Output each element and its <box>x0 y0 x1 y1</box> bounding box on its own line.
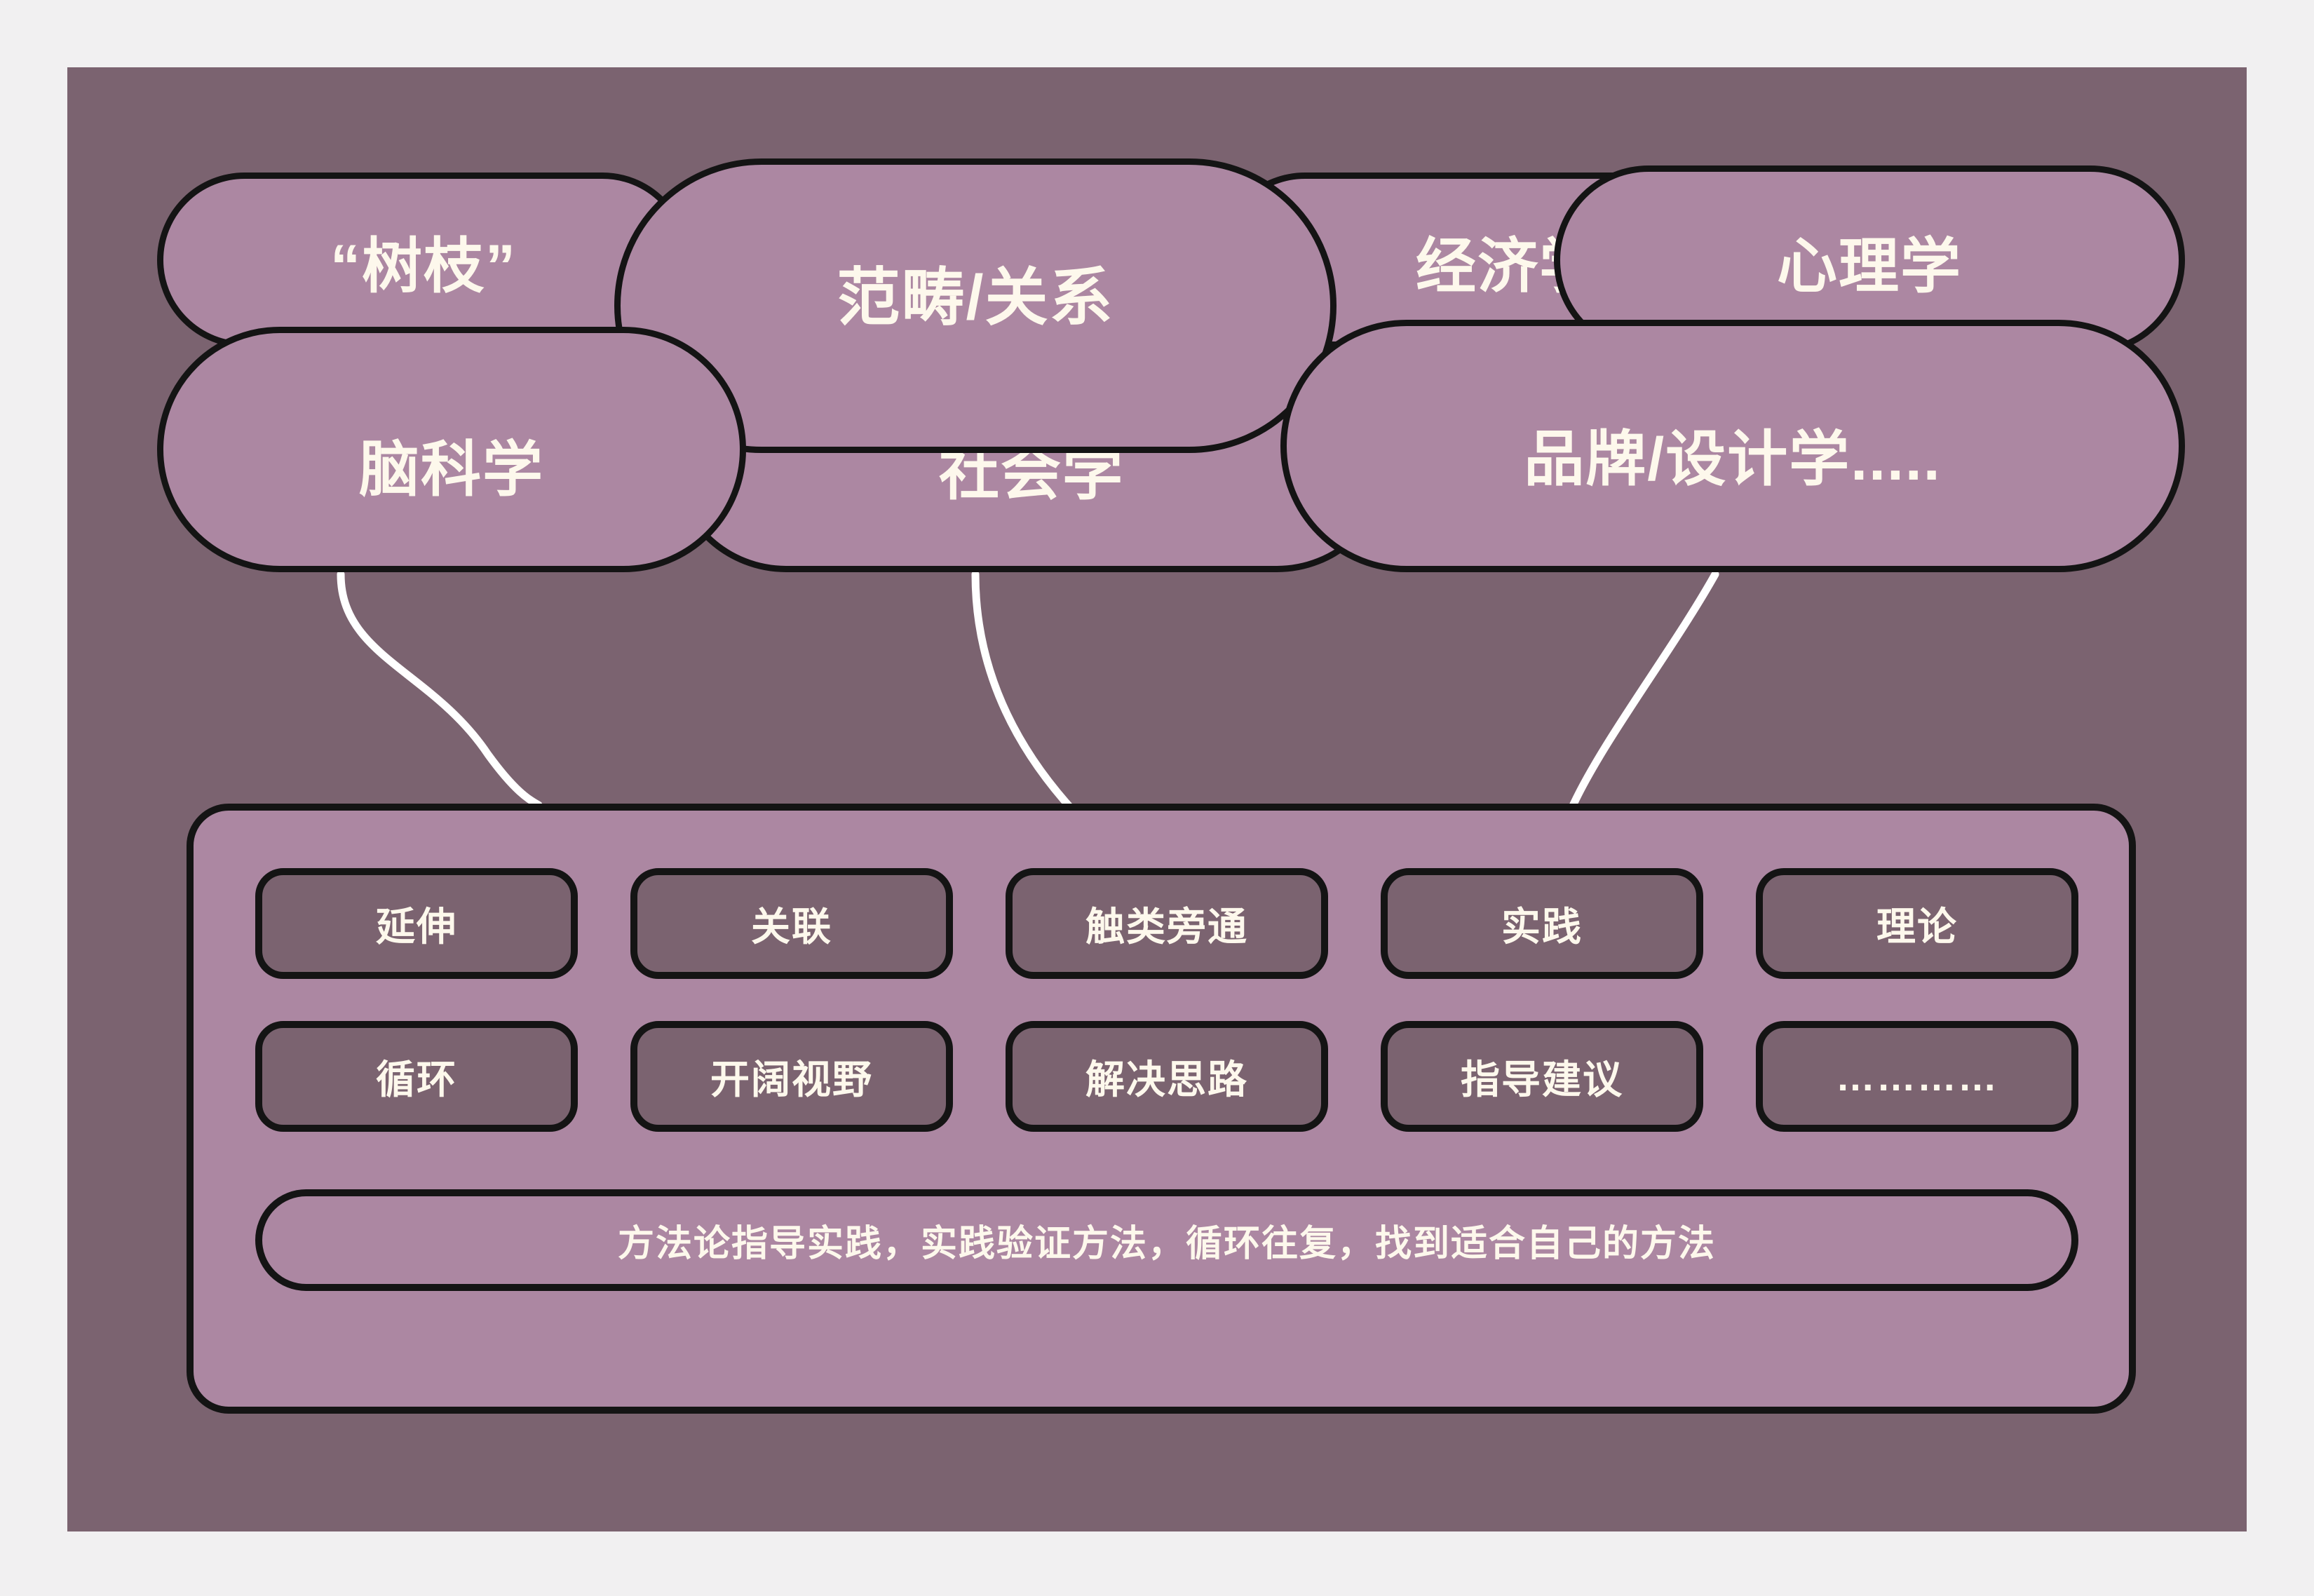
method-chip-kaikuoshiye[interactable]: 开阔视野 <box>630 1021 953 1132</box>
methodology-summary-text: 方法论指导实践，实践验证方法，循环往复，找到适合自己的方法 <box>618 1214 1716 1266</box>
connector-left-path <box>341 574 539 805</box>
method-chip-jiejuesilu[interactable]: 解决思路 <box>1006 1021 1328 1132</box>
method-chip-kaikuoshiye-label: 开阔视野 <box>710 1048 873 1105</box>
method-chip-chuleipangtong-label: 触类旁通 <box>1085 895 1248 952</box>
discipline-pill-fanchou-label: 范畴/关系 <box>837 246 1114 337</box>
connector-middle-path <box>975 574 1070 807</box>
discipline-pill-naoke[interactable]: 脑科学 <box>157 327 746 572</box>
method-chip-shijian-label: 实践 <box>1501 895 1583 952</box>
methodology-panel: 延伸 关联 触类旁通 实践 理论 循环 开阔视野 解决思路 <box>187 804 2136 1414</box>
connector-right-path <box>1573 574 1715 806</box>
discipline-pill-naoke-label: 脑科学 <box>359 420 544 508</box>
discipline-pill-shuzhi[interactable]: “树枝” <box>157 173 690 348</box>
method-chip-guanlian-label: 关联 <box>751 895 832 952</box>
method-chip-xunhuan-label: 循环 <box>376 1048 457 1105</box>
method-chip-ellipsis-label: ………… <box>1836 1054 1998 1100</box>
method-chip-yanshen-label: 延伸 <box>376 895 457 952</box>
diagram-canvas: 经济学 “树枝” 心理学 范畴/关系 社会学 脑科学 品牌/设计学..... 延… <box>67 67 2247 1531</box>
method-chip-chuleipangtong[interactable]: 触类旁通 <box>1006 868 1328 979</box>
method-chip-yanshen[interactable]: 延伸 <box>255 868 578 979</box>
method-chip-xunhuan[interactable]: 循环 <box>255 1021 578 1132</box>
discipline-pill-xinli-label: 心理学 <box>1777 217 1962 304</box>
method-chip-ellipsis[interactable]: ………… <box>1756 1021 2078 1132</box>
method-chip-shijian[interactable]: 实践 <box>1381 868 1703 979</box>
method-chip-guanlian[interactable]: 关联 <box>630 868 953 979</box>
method-chip-lilun[interactable]: 理论 <box>1756 868 2078 979</box>
methodology-row-1: 延伸 关联 触类旁通 实践 理论 <box>255 868 2078 979</box>
methodology-summary-bar: 方法论指导实践，实践验证方法，循环往复，找到适合自己的方法 <box>255 1189 2078 1291</box>
discipline-pill-pinpai-label: 品牌/设计学..... <box>1524 410 1941 497</box>
discipline-pill-shuzhi-label: “树枝” <box>330 217 517 304</box>
methodology-row-2: 循环 开阔视野 解决思路 指导建议 ………… <box>255 1021 2078 1132</box>
method-chip-lilun-label: 理论 <box>1876 895 1958 952</box>
method-chip-zhidaojianyi-label: 指导建议 <box>1461 1048 1623 1105</box>
discipline-pill-pinpai[interactable]: 品牌/设计学..... <box>1280 320 2185 572</box>
method-chip-jiejuesilu-label: 解决思路 <box>1085 1048 1248 1105</box>
method-chip-zhidaojianyi[interactable]: 指导建议 <box>1381 1021 1703 1132</box>
